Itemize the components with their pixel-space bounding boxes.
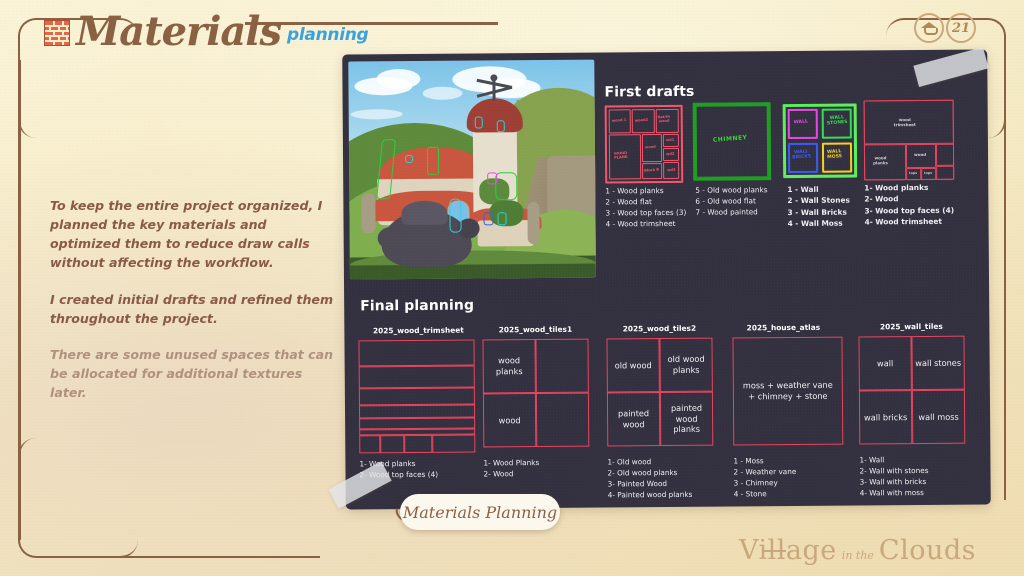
paragraph-1: To keep the entire project organized, I … <box>50 196 338 273</box>
cell-label <box>536 340 587 392</box>
cell-label: moss + weather vane + chimney + stone <box>733 338 842 445</box>
frame-line-bottom <box>100 556 320 559</box>
annotation-outline-green-3 <box>495 172 517 200</box>
atlas-title-2: 2025_wood_tiles2 <box>598 324 720 334</box>
cell-label: painted wood <box>608 393 659 445</box>
draft-chimney: CHIMNEY <box>693 102 772 181</box>
cell-label: wood planks <box>483 340 534 392</box>
graduation-cap-badge[interactable] <box>914 13 944 43</box>
atlas-legend-4: 1- Wall 2- Wall with stones 3- Wall with… <box>859 454 928 499</box>
draft-wall: WALL WALL STONES WALL BRICKS WALL MOSS <box>783 104 858 179</box>
description-text-block: To keep the entire project organized, I … <box>50 196 338 419</box>
atlas-house: moss + weather vane + chimney + stone <box>732 337 843 446</box>
scribble: WALL STONES <box>826 115 847 127</box>
title-underline <box>245 22 498 25</box>
section-label-text: Materials Planning <box>403 503 557 522</box>
frame-corner-bottom-left <box>18 438 138 558</box>
draft-legend-chimney: 5 - Old wood planks 6 - Old wood flat 7 … <box>695 184 768 218</box>
annotation-outline-cyan-5 <box>497 212 506 225</box>
footer-word-clouds: Clouds <box>879 535 976 566</box>
cell-label: wood <box>914 153 926 158</box>
annotation-outline-cyan-2 <box>497 120 505 132</box>
footer-word-in-the: in the <box>842 549 874 562</box>
cell-label: old wood planks <box>660 339 711 391</box>
cell-label: wall bricks <box>860 391 911 443</box>
page-title: Materials <box>76 12 281 52</box>
graduation-cap-icon <box>921 21 937 35</box>
page-number-badge: 21 <box>946 13 976 43</box>
page-number-label: 21 <box>952 21 970 36</box>
draft-trimsheet: wood trimsheet wood planks wood tops top… <box>864 100 955 181</box>
atlas-wood-tiles1: wood planks wood <box>482 339 589 448</box>
page-header: Materials planning <box>44 12 368 52</box>
atlas-legend-1: 1- Wood Planks 2- Wood <box>483 457 539 480</box>
annotation-outline-green-2 <box>427 147 439 175</box>
cell-label: wall stones <box>912 337 963 389</box>
annotation-outline-magenta <box>487 172 497 184</box>
cell-label: wood <box>484 394 535 446</box>
cell-label: painted wood planks <box>661 393 712 445</box>
paragraph-2: I created initial drafts and refined the… <box>50 290 338 328</box>
annotation-outline-cyan-4 <box>449 199 461 233</box>
scribble: wd3 <box>667 168 676 173</box>
atlas-wood-trimsheet <box>358 340 475 449</box>
cell-label: wall <box>859 337 910 389</box>
atlas-legend-2: 1- Old wood 2- Old wood planks 3- Painte… <box>607 456 692 501</box>
atlas-title-0: 2025_wood_trimsheet <box>358 325 478 335</box>
cell-label: wall moss <box>913 391 964 443</box>
footer-brand: Village in the Clouds <box>739 535 976 566</box>
footer-word-village: Village <box>739 535 837 566</box>
atlas-wall-tiles: wall wall stones wall bricks wall moss <box>858 336 965 445</box>
atlas-title-1: 2025_wood_tiles1 <box>476 325 594 335</box>
brick-icon <box>44 20 70 46</box>
annotation-outline-cyan-1 <box>475 116 483 128</box>
scribble: WALL BRICKS <box>792 149 812 161</box>
cell-label: wood trimsheet <box>894 118 916 127</box>
atlas-legend-3: 1 - Moss 2 - Weather vane 3 - Chimney 4 … <box>733 455 796 500</box>
section-label-pill: Materials Planning <box>400 494 560 530</box>
scribble: WALL <box>794 119 809 125</box>
scribble: WALL MOSS <box>827 149 843 161</box>
cell-label: tops <box>924 172 932 176</box>
content-board: First drafts wood 1 wood2 flat/th wood W… <box>342 49 991 509</box>
scribble: WOOD PLANK <box>614 151 628 160</box>
draft-legend-wall: 1 - Wall 2 - Wall Stones 3 - Wall Bricks… <box>787 184 850 229</box>
paragraph-3: There are some unused spaces that can be… <box>50 345 338 402</box>
atlas-title-4: 2025_wall_tiles <box>852 322 970 332</box>
annotation-outline-cyan-3 <box>405 155 413 163</box>
scribble: wd1 <box>666 138 675 143</box>
village-concept-art-image <box>348 60 596 280</box>
draft-legend-wood: 1 - Wood planks 2 - Wood flat 3 - Wood t… <box>605 185 686 230</box>
atlas-wood-tiles2: old wood old wood planks painted wood pa… <box>606 338 713 447</box>
draft-wood: wood 1 wood2 flat/th wood WOOD PLANK woo… <box>605 105 684 184</box>
cell-label <box>537 394 588 446</box>
cell-label: old wood <box>607 339 658 391</box>
scribble: wd2 <box>666 152 675 157</box>
final-planning-heading: Final planning <box>360 298 474 315</box>
page-subtitle: planning <box>287 25 368 45</box>
draft-legend-trimsheet: 1- Wood planks 2- Wood 3- Wood top faces… <box>864 182 954 228</box>
cell-label: tops <box>909 172 917 176</box>
scribble: flat/th wood <box>657 115 670 124</box>
frame-line-right <box>1004 70 1007 500</box>
cell-label: wood planks <box>873 156 888 165</box>
annotation-outline-blue <box>483 212 493 225</box>
first-drafts-heading: First drafts <box>604 84 694 101</box>
atlas-title-3: 2025_house_atlas <box>722 323 844 333</box>
scribble: wood <box>645 145 656 150</box>
